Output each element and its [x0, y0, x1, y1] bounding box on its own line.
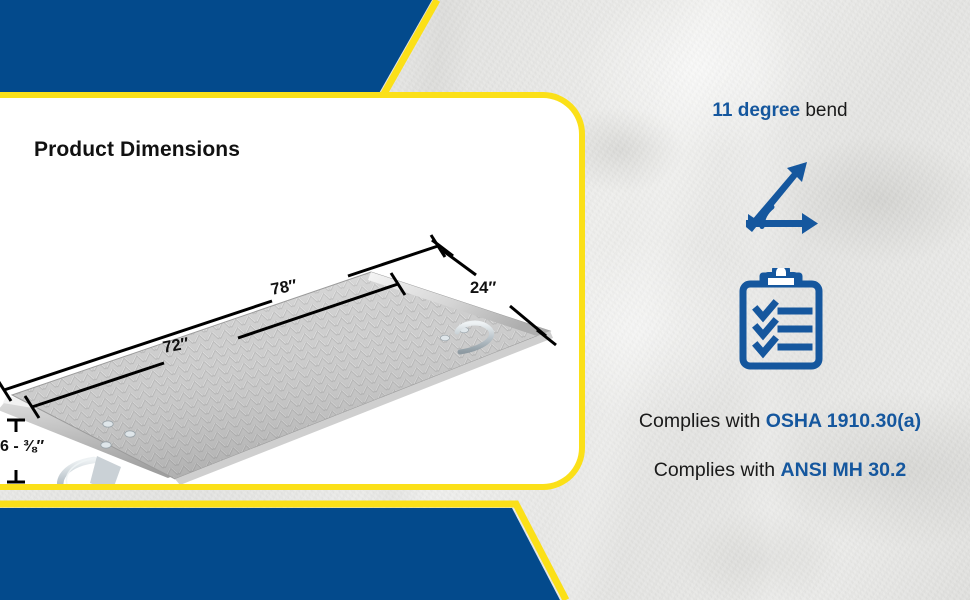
bend-angle-suffix: bend — [800, 100, 848, 121]
compliance-osha-standard: OSHA 1910.30(a) — [766, 410, 921, 432]
bottom-blue-panel — [0, 508, 560, 600]
compliance-ansi: Complies with ANSI MH 30.2 — [590, 459, 970, 482]
bend-angle-value: 11 degree — [712, 100, 800, 121]
compliance-ansi-prefix: Complies with — [654, 459, 781, 481]
compliance-ansi-standard: ANSI MH 30.2 — [781, 459, 907, 481]
features-column: 11 degree bend — [590, 0, 970, 600]
infographic-stage: Product Dimensions — [0, 0, 970, 600]
clipboard-checklist-icon — [735, 268, 827, 372]
ramp-handle-left — [60, 456, 121, 490]
compliance-osha-prefix: Complies with — [639, 410, 766, 432]
bend-angle-heading: 11 degree bend — [590, 100, 970, 122]
compliance-osha: Complies with OSHA 1910.30(a) — [590, 410, 970, 433]
top-blue-panel — [0, 0, 432, 95]
product-dimensions-card: Product Dimensions — [0, 92, 585, 490]
angle-icon — [732, 152, 828, 248]
dimension-label-24: 24″ — [470, 279, 496, 298]
dimension-label-height: 6 - ⅜″ — [0, 438, 44, 456]
